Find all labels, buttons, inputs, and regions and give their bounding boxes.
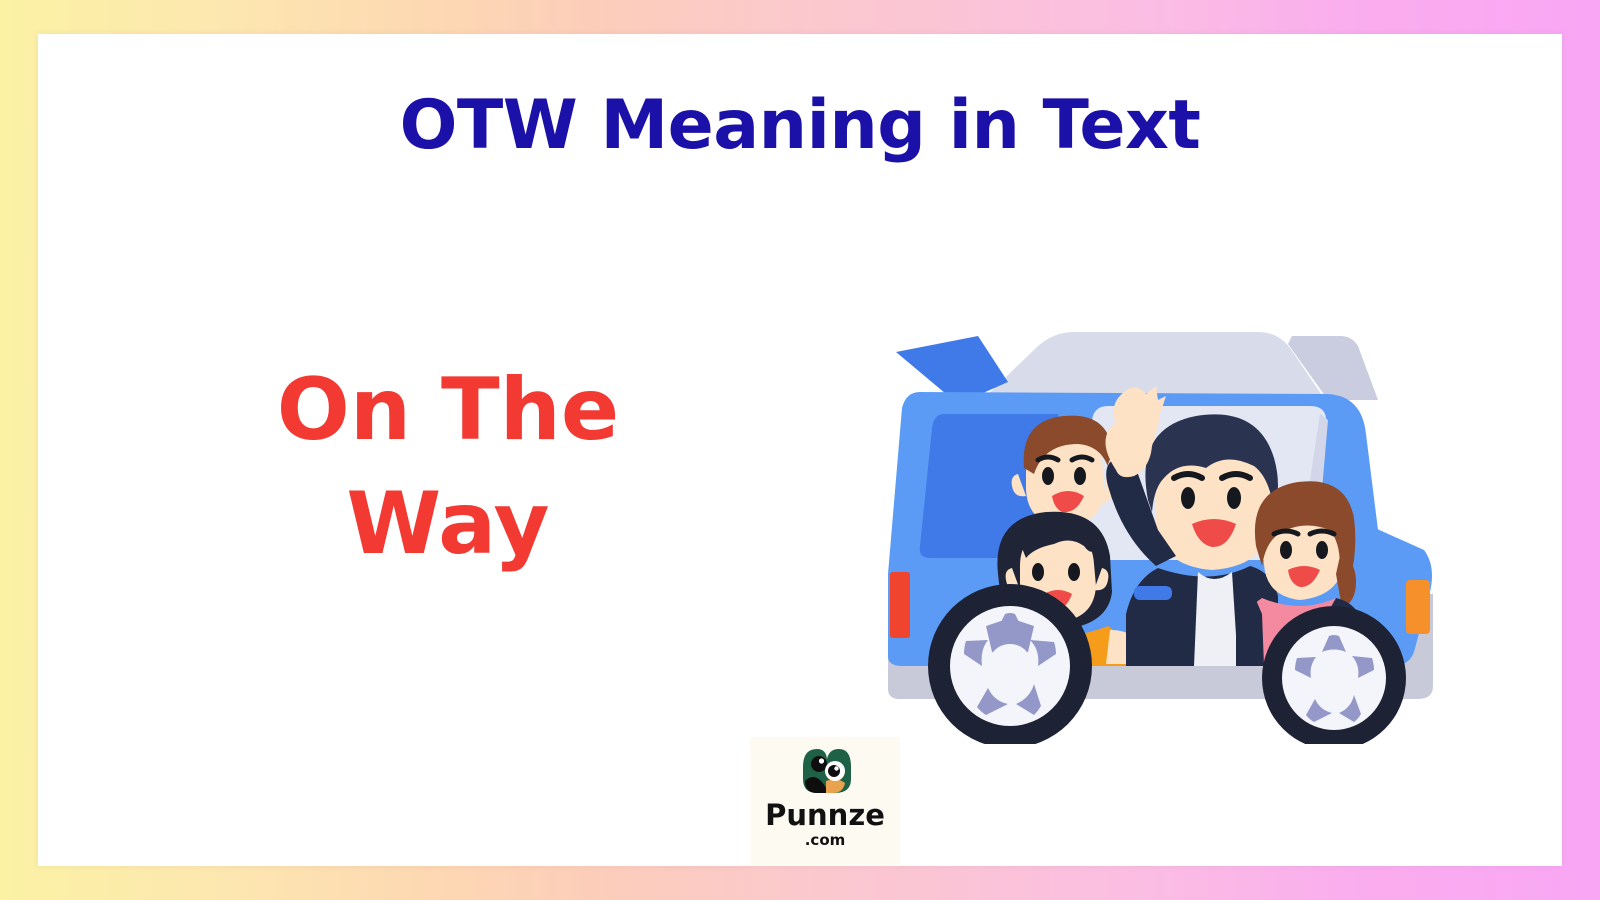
site-logo[interactable]: Punnze .com bbox=[750, 737, 900, 865]
car-door-handle bbox=[1134, 586, 1172, 600]
boy-eye-left bbox=[1042, 467, 1054, 485]
phrase-line-1: On The bbox=[208, 354, 688, 468]
car-front-wheel bbox=[1262, 606, 1406, 744]
logo-brand-text: Punnze bbox=[765, 801, 885, 830]
page-title: OTW Meaning in Text bbox=[38, 86, 1562, 165]
duck-eye-left bbox=[811, 756, 827, 772]
family-car-illustration bbox=[858, 274, 1478, 744]
duck-eye-right-highlight bbox=[834, 766, 838, 770]
girl-eye-right bbox=[1068, 563, 1080, 581]
car-headlight bbox=[1406, 580, 1430, 634]
car-rear-wheel bbox=[928, 584, 1092, 744]
rear-hub bbox=[988, 644, 1032, 688]
white-content-card: OTW Meaning in Text On The Way bbox=[38, 34, 1562, 866]
phrase-line-2: Way bbox=[208, 468, 688, 582]
boy-eye-right bbox=[1074, 467, 1086, 485]
duck-head-icon bbox=[793, 745, 857, 797]
poster-canvas: OTW Meaning in Text On The Way bbox=[0, 0, 1600, 900]
duck-eye-left-highlight bbox=[819, 758, 824, 763]
front-hub bbox=[1316, 660, 1352, 696]
duck-pupil-right bbox=[828, 765, 840, 777]
man-shirt bbox=[1194, 572, 1238, 666]
logo-tld-text: .com bbox=[805, 833, 846, 848]
car-taillight bbox=[890, 572, 910, 638]
expanded-phrase: On The Way bbox=[208, 354, 688, 581]
man-eye-left bbox=[1181, 487, 1195, 509]
girl-eye-left bbox=[1032, 563, 1044, 581]
woman-eye-right bbox=[1316, 541, 1328, 559]
woman-eye-left bbox=[1280, 541, 1292, 559]
man-eye-right bbox=[1227, 487, 1241, 509]
